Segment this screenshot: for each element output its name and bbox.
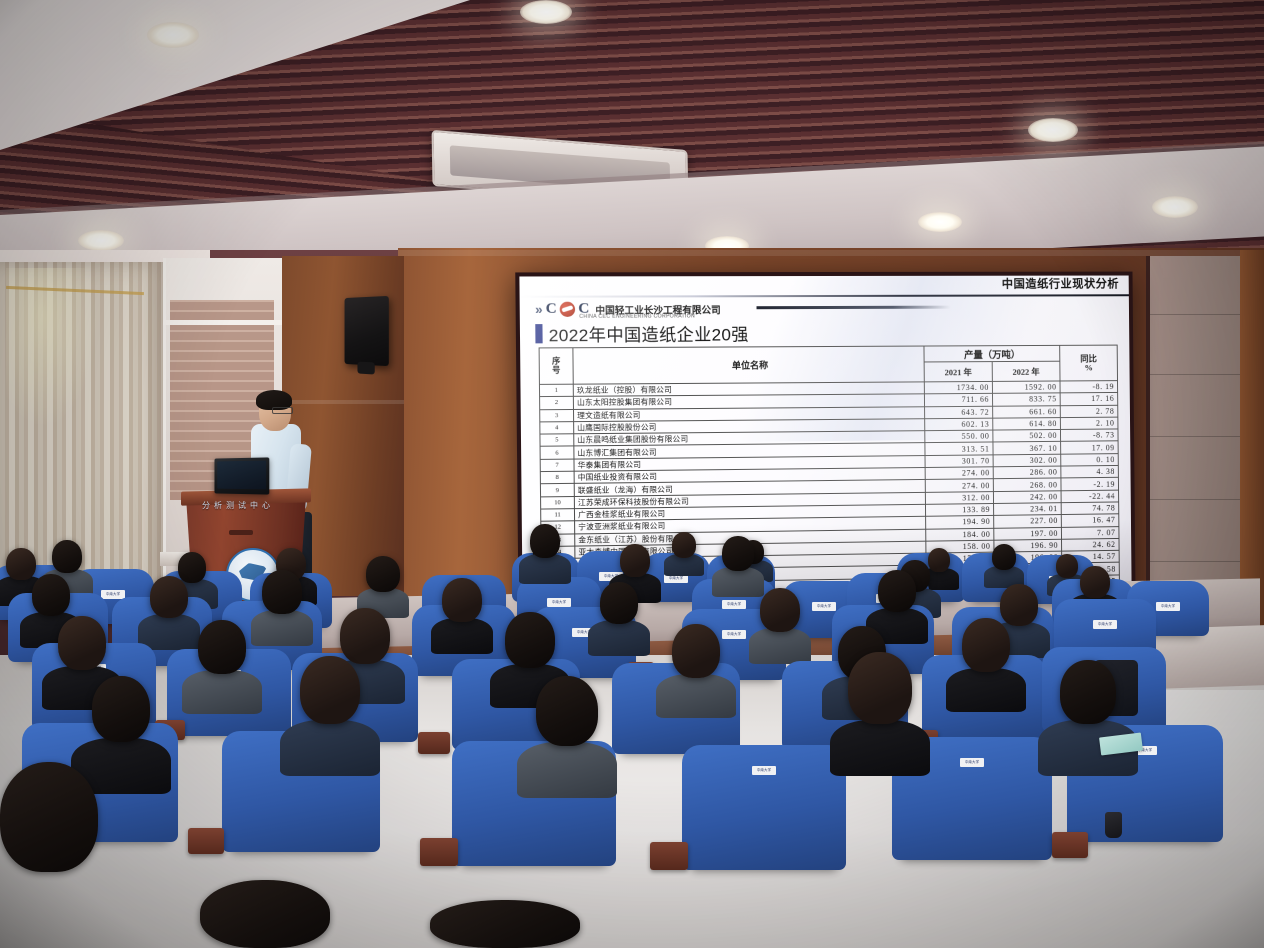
row-yoy: 4. 38 bbox=[1061, 466, 1119, 479]
audience-member-head bbox=[505, 612, 555, 668]
logo-swoosh-icon bbox=[560, 302, 575, 317]
row-output-2021: 313. 51 bbox=[925, 442, 993, 455]
seat-number-plate: 中南大学 bbox=[547, 598, 571, 607]
row-output-2022: 286. 00 bbox=[993, 466, 1061, 479]
row-output-2021: 301. 70 bbox=[925, 455, 993, 468]
seat-number-plate: 中南大学 bbox=[722, 600, 746, 609]
row-yoy: 0. 10 bbox=[1061, 453, 1119, 466]
seat-armrest bbox=[188, 828, 224, 854]
row-yoy: 7. 07 bbox=[1061, 526, 1119, 539]
row-output-2022: 833. 75 bbox=[992, 393, 1060, 406]
audience-member-shoulders bbox=[946, 668, 1026, 712]
row-output-2021: 711. 66 bbox=[924, 394, 992, 407]
lectern-label: 分析测试中心 bbox=[192, 500, 284, 513]
audience-member-head bbox=[530, 524, 560, 558]
audience-member-head bbox=[962, 618, 1010, 672]
presenter-laptop bbox=[214, 457, 269, 494]
seat-armrest bbox=[420, 838, 458, 866]
audience-member-head bbox=[150, 576, 188, 618]
cup-holder-cup bbox=[1105, 812, 1122, 838]
row-serial: 3 bbox=[540, 409, 574, 422]
row-output-2022: 268. 00 bbox=[993, 478, 1061, 491]
row-yoy: 17. 09 bbox=[1061, 441, 1119, 454]
row-output-2021: 274. 00 bbox=[925, 467, 993, 480]
window-curtain bbox=[0, 262, 168, 592]
lecture-hall-photo: 中国造纸行业现状分析 » C C 中国轻工业长沙工程有限公司 CHINA CEC… bbox=[0, 0, 1264, 948]
left-wood-panel-seam bbox=[282, 400, 404, 404]
lectern-slot bbox=[229, 530, 253, 535]
audience-member-head bbox=[620, 544, 650, 577]
row-serial: 10 bbox=[541, 496, 575, 509]
audience-member-head bbox=[672, 624, 720, 678]
heading-accent-bar bbox=[535, 324, 542, 343]
slide-heading-text: 2022年中国造纸企业20强 bbox=[549, 320, 749, 346]
ceiling-downlight bbox=[1152, 196, 1198, 218]
audience-member-shoulders bbox=[749, 628, 811, 664]
audience-member-shoulders bbox=[588, 620, 650, 656]
audience-member-shoulders bbox=[712, 567, 764, 597]
company-name-en: CHINA CEC ENGINEERING CORPORATION bbox=[579, 313, 695, 319]
ceiling-downlight bbox=[78, 230, 124, 251]
wall-trim-strip bbox=[398, 250, 1264, 256]
row-yoy: 17. 16 bbox=[1060, 393, 1118, 406]
chevron-right-icon: » bbox=[535, 302, 539, 317]
audience-member-shoulders bbox=[431, 618, 493, 654]
ceiling-downlight bbox=[147, 22, 199, 48]
seat-number-plate: 中南大学 bbox=[101, 590, 125, 599]
row-serial: 8 bbox=[540, 471, 574, 484]
audience-member-shoulders bbox=[251, 610, 313, 646]
seat-number-plate: 中南大学 bbox=[1156, 602, 1180, 611]
row-yoy: -8. 73 bbox=[1060, 429, 1118, 442]
row-output-2022: 242. 00 bbox=[993, 490, 1061, 503]
audience-member-head bbox=[340, 608, 390, 664]
seat-armrest bbox=[418, 732, 450, 754]
audience-member-head bbox=[262, 570, 302, 614]
row-yoy: 2. 10 bbox=[1060, 417, 1118, 430]
row-serial: 1 bbox=[539, 384, 573, 397]
row-serial: 2 bbox=[540, 397, 574, 410]
seat-armrest bbox=[1052, 832, 1088, 858]
audience-member-head bbox=[992, 544, 1016, 570]
slide-top-rule bbox=[520, 294, 1129, 298]
audience-member-head bbox=[536, 676, 598, 746]
window-mullion bbox=[163, 320, 283, 325]
row-output-2022: 1592. 00 bbox=[992, 381, 1060, 394]
seat-armrest bbox=[650, 842, 688, 870]
row-output-2021: 643. 72 bbox=[925, 406, 993, 419]
audience-member-head bbox=[366, 556, 400, 592]
col-2021: 2021 年 bbox=[924, 362, 992, 382]
audience-member-head bbox=[52, 540, 82, 573]
presenter-glasses bbox=[272, 407, 293, 414]
row-serial: 11 bbox=[541, 509, 575, 522]
audience-member-shoulders bbox=[656, 674, 736, 718]
row-output-2021: 602. 13 bbox=[925, 418, 993, 431]
logo-letter-c-left: C bbox=[546, 301, 557, 318]
audience-member-head bbox=[6, 548, 36, 580]
audience-member-head bbox=[672, 532, 696, 558]
row-yoy: -8. 19 bbox=[1060, 381, 1118, 394]
row-output-2021: 184. 00 bbox=[926, 528, 994, 541]
audience-member-head bbox=[58, 616, 106, 670]
ceiling-downlight bbox=[918, 212, 962, 232]
audience-member-head bbox=[878, 570, 916, 612]
audience-member-shoulders bbox=[517, 742, 617, 798]
row-output-2021: 194. 90 bbox=[926, 516, 994, 529]
audience-member-shoulders bbox=[830, 720, 930, 776]
audience-member-head bbox=[848, 652, 912, 724]
audience-member-head bbox=[200, 880, 330, 948]
company-logo: » C C 中国轻工业长沙工程有限公司 CHINA CEC ENGINEERIN… bbox=[535, 300, 721, 318]
audience-member-shoulders bbox=[519, 554, 571, 584]
table-head: 序号 单位名称 产量（万吨） 同比% 2021 年 2022 年 bbox=[539, 345, 1117, 384]
row-output-2021: 133. 89 bbox=[925, 503, 993, 516]
audience-member-head bbox=[1080, 566, 1110, 598]
audience-member-head bbox=[722, 536, 754, 571]
audience-member-head bbox=[600, 582, 638, 624]
row-output-2021: 274. 00 bbox=[925, 479, 993, 492]
audience-member-shoulders bbox=[182, 670, 262, 714]
wall-speaker-icon bbox=[345, 296, 389, 366]
slide-heading: 2022年中国造纸企业20强 bbox=[535, 320, 749, 346]
row-serial: 6 bbox=[540, 446, 574, 459]
row-yoy: -2. 19 bbox=[1061, 478, 1119, 491]
seat-number-plate: 中南大学 bbox=[960, 758, 984, 767]
ceiling-downlight bbox=[1028, 118, 1078, 142]
audience-member-head bbox=[32, 574, 70, 616]
row-yoy: 74. 78 bbox=[1061, 502, 1119, 515]
row-output-2022: 661. 60 bbox=[993, 405, 1061, 418]
slide-header-title: 中国造纸行业现状分析 bbox=[1002, 276, 1119, 295]
col-group-output: 产量（万吨） bbox=[924, 345, 1060, 362]
row-output-2022: 502. 00 bbox=[993, 430, 1061, 443]
row-output-2022: 614. 80 bbox=[993, 417, 1061, 430]
audience-member-head bbox=[1056, 554, 1078, 578]
row-serial: 5 bbox=[540, 434, 574, 447]
row-output-2022: 302. 00 bbox=[993, 454, 1061, 467]
row-yoy: 16. 47 bbox=[1061, 514, 1119, 527]
col-2022: 2022 年 bbox=[992, 361, 1060, 381]
col-serial-number: 序号 bbox=[539, 348, 573, 385]
audience-member-head bbox=[430, 900, 580, 948]
row-output-2022: 227. 00 bbox=[994, 515, 1062, 528]
audience-member-head bbox=[1000, 584, 1038, 626]
audience-member-head bbox=[1060, 660, 1116, 724]
audience-member-head bbox=[198, 620, 246, 674]
seat-number-plate: 中南大学 bbox=[722, 630, 746, 639]
row-serial: 7 bbox=[540, 459, 574, 472]
row-yoy: 24. 62 bbox=[1062, 538, 1120, 551]
audience-member-head bbox=[760, 588, 800, 632]
col-yoy-percent: 同比% bbox=[1060, 345, 1118, 381]
audience-member-head bbox=[92, 676, 150, 742]
logo-divider-rule bbox=[757, 306, 951, 310]
auditorium-seat[interactable]: 中南大学 bbox=[690, 752, 838, 868]
audience-member-head bbox=[0, 762, 98, 872]
row-serial: 9 bbox=[540, 484, 574, 497]
row-output-2021: 312. 00 bbox=[925, 491, 993, 504]
seat-number-plate: 中南大学 bbox=[752, 766, 776, 775]
ceiling-downlight bbox=[520, 0, 572, 24]
row-yoy: 2. 78 bbox=[1060, 405, 1118, 418]
row-output-2021: 1734. 00 bbox=[924, 381, 992, 394]
audience-member-head bbox=[300, 656, 360, 724]
row-output-2021: 550. 00 bbox=[925, 430, 993, 443]
row-yoy: -22. 44 bbox=[1061, 490, 1119, 503]
row-serial: 4 bbox=[540, 422, 574, 435]
row-output-2022: 367. 10 bbox=[993, 442, 1061, 455]
row-output-2022: 234. 01 bbox=[994, 503, 1062, 516]
seat-number-plate: 中南大学 bbox=[812, 602, 836, 611]
audience-member-head bbox=[928, 548, 950, 572]
seat-number-plate: 中南大学 bbox=[1093, 620, 1117, 629]
audience-member-shoulders bbox=[280, 720, 380, 776]
audience-member-head bbox=[442, 578, 482, 622]
audience-member-head bbox=[178, 552, 206, 583]
col-company-name: 单位名称 bbox=[573, 346, 924, 384]
row-output-2022: 197. 00 bbox=[994, 527, 1062, 540]
